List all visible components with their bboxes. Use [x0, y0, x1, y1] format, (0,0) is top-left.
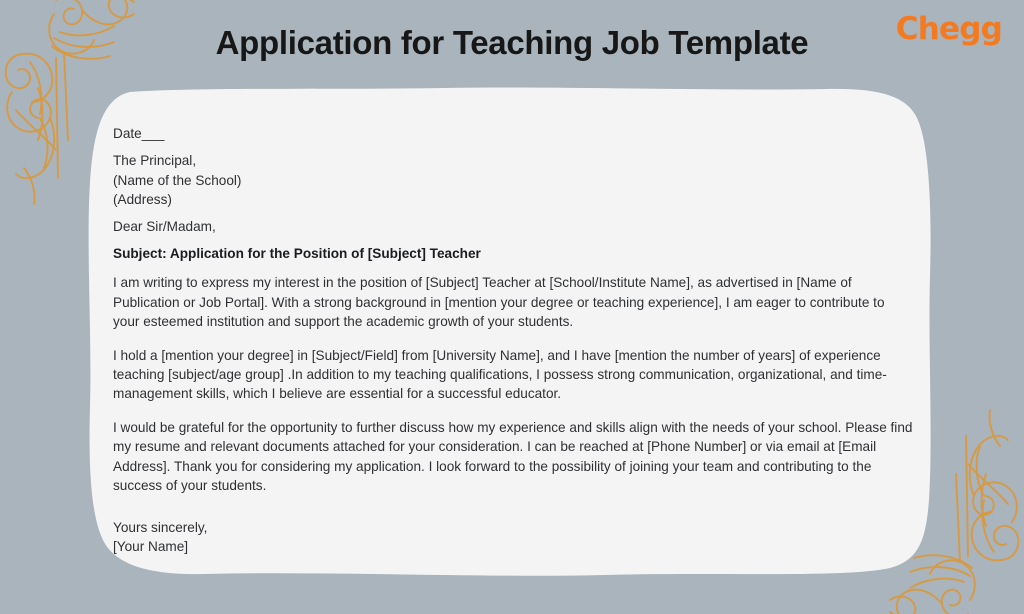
page-title: Application for Teaching Job Template	[0, 24, 1024, 62]
signature-line: [Your Name]	[113, 537, 914, 556]
address-line: (Address)	[113, 190, 914, 209]
letter-card: Date___ The Principal, (Name of the Scho…	[84, 86, 936, 578]
salutation-line: Dear Sir/Madam,	[113, 217, 914, 236]
subject-line: Subject: Application for the Position of…	[113, 244, 914, 263]
address-line: The Principal,	[113, 151, 914, 170]
recipient-address-block: The Principal, (Name of the School) (Add…	[113, 151, 914, 209]
body-paragraph-2: I hold a [mention your degree] in [Subje…	[113, 346, 914, 404]
letter-body: Date___ The Principal, (Name of the Scho…	[113, 124, 914, 568]
date-line: Date___	[113, 124, 914, 143]
closing-block: Yours sincerely, [Your Name]	[113, 518, 914, 557]
closing-line: Yours sincerely,	[113, 518, 914, 537]
poster-canvas: Chegg Application for Teaching Job Templ…	[0, 0, 1024, 614]
body-paragraph-3: I would be grateful for the opportunity …	[113, 418, 914, 496]
body-paragraph-1: I am writing to express my interest in t…	[113, 273, 914, 331]
address-line: (Name of the School)	[113, 171, 914, 190]
